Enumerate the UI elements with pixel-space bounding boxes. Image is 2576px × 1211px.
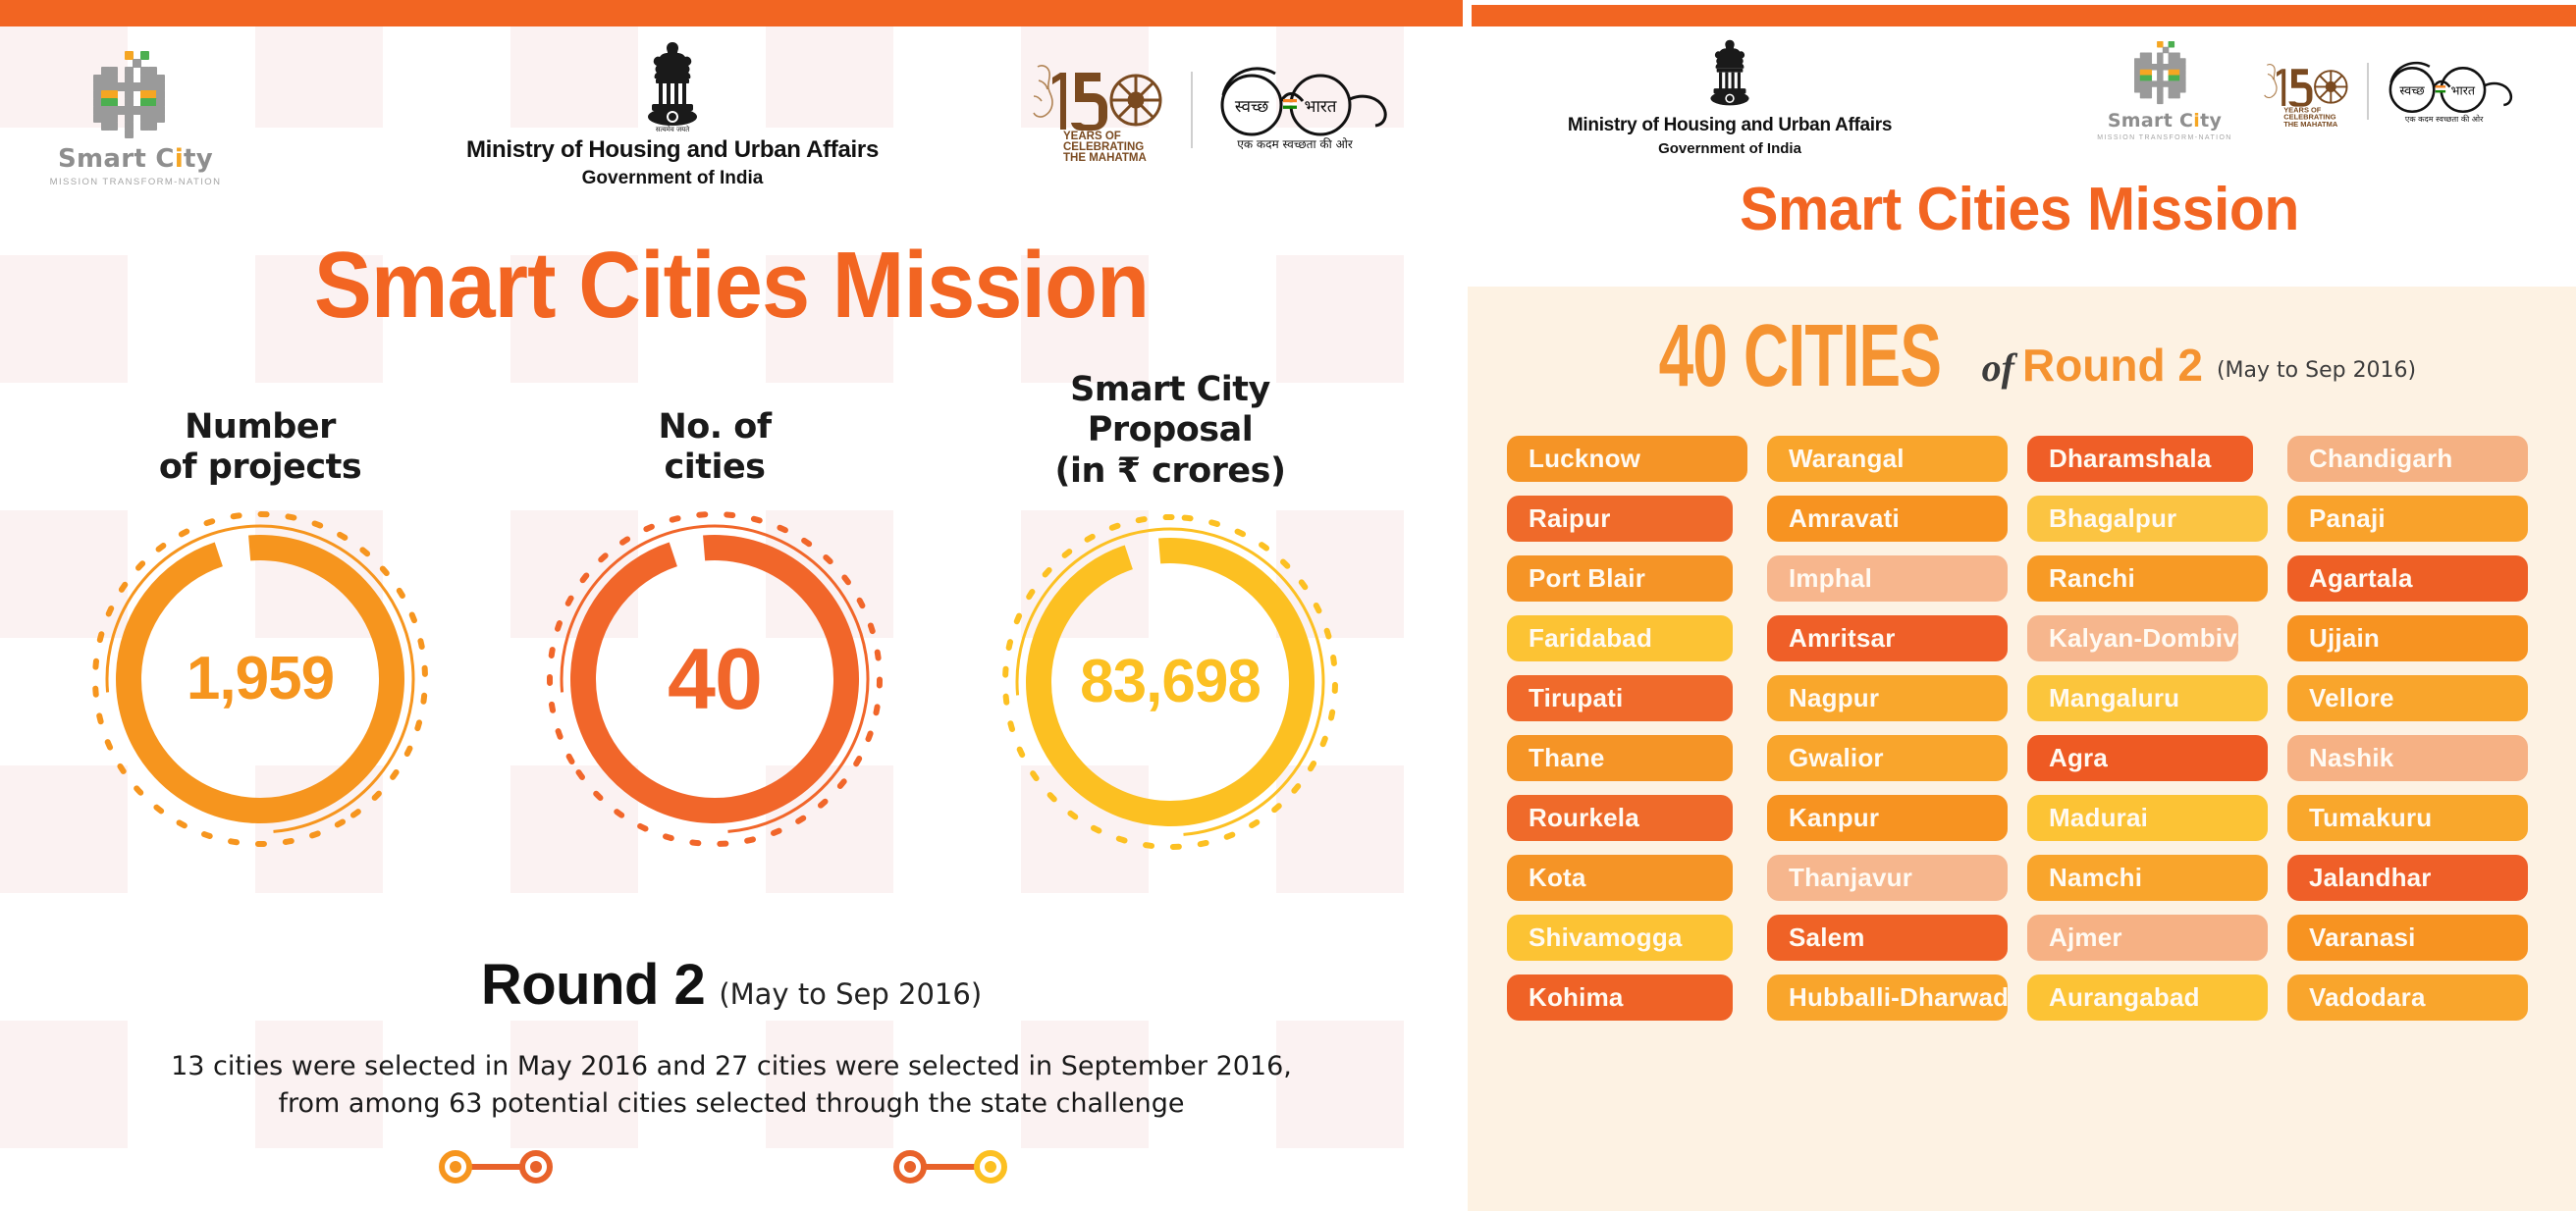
cities-round-label: Round 2 (2022, 340, 2203, 391)
smart-city-logo: Smart City MISSION TRANSFORM-NATION (37, 51, 234, 187)
150-years-mahatma-logo: YEARS OF CELEBRATING THE MAHATMA (1016, 53, 1173, 166)
cities-heading-of: of (1982, 345, 2014, 390)
metric-3-caption-line1: Smart City (964, 370, 1376, 410)
left-logo-row: Smart City MISSION TRANSFORM-NATION (0, 39, 1463, 226)
smart-city-logo-pixel (148, 122, 157, 131)
svg-text:भारत: भारत (2451, 83, 2476, 98)
svg-text:स्वच्छ: स्वच्छ (2399, 83, 2425, 98)
round-label: Round 2 (481, 953, 705, 1017)
svg-text:THE MAHATMA: THE MAHATMA (2283, 120, 2338, 127)
svg-text:भारत: भारत (1305, 97, 1337, 117)
metric-3-caption-line2: Proposal (964, 410, 1376, 450)
city-pill[interactable]: Salem (1767, 915, 2008, 961)
svg-text:एक कदम स्वच्छता की ओर: एक कदम स्वच्छता की ओर (2405, 114, 2484, 124)
city-pill[interactable]: Kanpur (1767, 795, 2008, 841)
metric-1-caption-line2: of projects (54, 448, 466, 488)
svg-text:सत्यमेव जयते: सत्यमेव जयते (656, 125, 690, 133)
metric-3-caption-line3: (in ₹ crores) (964, 451, 1376, 492)
city-pill[interactable]: Ujjain (2287, 615, 2528, 661)
150-years-mahatma-icon: YEARS OF CELEBRATING THE MAHATMA (2253, 56, 2355, 127)
cities-round-dates: (May to Sep 2016) (2217, 358, 2416, 383)
swachh-bharat-glasses-icon: स्वच्छ भारत एक कदम स्वच्छता की ओर (2381, 55, 2528, 128)
smart-city-logo-pixel (2169, 41, 2174, 47)
smart-city-logo-i-dot: i (2193, 110, 2200, 132)
metric-3-ring: 83,698 (993, 505, 1347, 859)
city-pill[interactable]: Hubballi-Dharwad (1767, 974, 2008, 1021)
smart-city-logo-word: Smart City (37, 144, 234, 174)
page-title: Smart Cities Mission (59, 232, 1405, 340)
city-pill[interactable]: Vellore (2287, 675, 2528, 721)
city-pill[interactable]: Lucknow (1507, 436, 1747, 482)
metrics-row: Number of projects 1,959 No. of cities (0, 407, 1463, 957)
right-logo-divider (2367, 63, 2369, 120)
ministry-name: Ministry of Housing and Urban Affairs (461, 136, 884, 164)
150-logo-line3: THE MAHATMA (1063, 152, 1147, 161)
round-dates: (May to Sep 2016) (719, 977, 982, 1011)
cities-heading: 40 CITIESofRound 2(May to Sep 2016) (1468, 318, 2576, 407)
city-pill[interactable]: Kohima (1507, 974, 1733, 1021)
government-of-india-label: Government of India (461, 168, 884, 189)
city-pill[interactable]: Imphal (1767, 555, 2008, 602)
swachh-bharat-logo: स्वच्छ भारत एक कदम स्वच्छता की ओर (1210, 58, 1407, 161)
smart-city-logo-pixel (2173, 92, 2179, 98)
smart-city-logo-pixel (109, 122, 118, 131)
india-state-emblem-icon (1701, 37, 1758, 112)
city-pill[interactable]: Aurangabad (2027, 974, 2268, 1021)
metric-number-of-projects: Number of projects 1,959 (54, 407, 466, 856)
description-line-2: from among 63 potential cities selected … (0, 1085, 1463, 1123)
connector-2 (886, 1147, 1014, 1186)
right-top-orange-bar (1472, 5, 2576, 26)
right-panel: Ministry of Housing and Urban Affairs Go… (1463, 0, 2576, 1211)
city-pill[interactable]: Nagpur (1767, 675, 2008, 721)
city-pill[interactable]: Agartala (2287, 555, 2528, 602)
150-years-mahatma-icon: YEARS OF CELEBRATING THE MAHATMA (1016, 53, 1173, 161)
metric-1-ring: 1,959 (83, 502, 437, 856)
india-state-emblem-icon: सत्यमेव जयते (636, 39, 709, 133)
smart-city-logo-i-dot: i (175, 144, 184, 174)
metric-2-caption-line2: cities (509, 448, 921, 488)
description-text: 13 cities were selected in May 2016 and … (0, 1048, 1463, 1124)
city-pill[interactable]: Agra (2027, 735, 2268, 781)
smart-city-logo-pixel (2179, 86, 2185, 92)
city-pill[interactable]: Jalandhar (2287, 855, 2528, 901)
city-pill[interactable]: Tirupati (1507, 675, 1733, 721)
logo-divider (1191, 72, 1193, 148)
metric-2-value: 40 (538, 502, 891, 856)
right-smart-city-logo: Smart City MISSION TRANSFORM-NATION (2091, 41, 2238, 141)
city-pill[interactable]: Nashik (2287, 735, 2528, 781)
svg-text:स्वच्छ: स्वच्छ (1235, 97, 1269, 117)
right-smart-city-tagline: MISSION TRANSFORM-NATION (2091, 134, 2238, 141)
smart-city-butterfly-icon (93, 51, 178, 137)
city-pill[interactable]: Dharamshala (2027, 436, 2253, 482)
city-pill[interactable]: Mangaluru (2027, 675, 2268, 721)
smart-city-logo-pixel (2157, 98, 2163, 104)
metric-no-of-cities: No. of cities 40 (509, 407, 921, 856)
round-label-block: Round 2(May to Sep 2016) (0, 952, 1463, 1018)
city-pill[interactable]: Ajmer (2027, 915, 2268, 961)
city-pill[interactable]: Faridabad (1507, 615, 1733, 661)
city-pill[interactable]: Kalyan-Dombivali (2027, 615, 2238, 661)
city-pill[interactable]: Thanjavur (1767, 855, 2008, 901)
left-panel: Smart City MISSION TRANSFORM-NATION (0, 0, 1463, 1211)
metric-smart-city-proposal: Smart City Proposal (in ₹ crores) 83,698 (964, 370, 1376, 859)
left-top-orange-bar (0, 0, 1463, 26)
city-pill[interactable]: Chandigarh (2287, 436, 2528, 482)
city-pill[interactable]: Warangal (1767, 436, 2008, 482)
city-pill[interactable]: Madurai (2027, 795, 2268, 841)
city-pill[interactable]: Amritsar (1767, 615, 2008, 661)
smart-city-butterfly-icon (2134, 41, 2195, 103)
right-government-of-india-label: Government of India (1484, 140, 1975, 157)
metric-3-value: 83,698 (993, 505, 1347, 859)
city-pill[interactable]: Varanasi (2287, 915, 2528, 961)
cities-card: 40 CITIESofRound 2(May to Sep 2016) Luck… (1468, 287, 2576, 1211)
right-mahatma-swachh-group: YEARS OF CELEBRATING THE MAHATMA (2253, 55, 2528, 128)
smart-city-logo-pixel (140, 51, 149, 60)
city-pill[interactable]: Tumakuru (2287, 795, 2528, 841)
city-pill[interactable]: Gwalior (1767, 735, 2008, 781)
city-pill[interactable]: Thane (1507, 735, 1733, 781)
city-pill[interactable]: Shivamogga (1507, 915, 1733, 961)
city-pill[interactable]: Bhagalpur (2027, 496, 2268, 542)
metric-2-caption-line1: No. of (509, 407, 921, 448)
metric-1-value: 1,959 (83, 502, 437, 856)
smart-city-logo-pixel (125, 130, 134, 138)
right-smart-city-word: Smart City (2091, 110, 2238, 132)
metric-2-ring: 40 (538, 502, 891, 856)
svg-text:एक कदम स्वच्छता की ओर: एक कदम स्वच्छता की ओर (1237, 137, 1354, 151)
mahatma-swachh-logo-group: YEARS OF CELEBRATING THE MAHATMA (1016, 53, 1407, 166)
city-pill[interactable]: Rourkela (1507, 795, 1733, 841)
ministry-logo: सत्यमेव जयते Ministry of Housing and Urb… (461, 39, 884, 189)
city-pill-grid: LucknowWarangalDharamshalaChandigarhRaip… (1507, 436, 2543, 1021)
city-pill[interactable]: Kota (1507, 855, 1733, 901)
connector-1 (432, 1147, 560, 1186)
description-line-1: 13 cities were selected in May 2016 and … (0, 1048, 1463, 1085)
right-ministry-logo: Ministry of Housing and Urban Affairs Go… (1484, 37, 1975, 157)
cities-count-label: 40 CITIES (1658, 304, 1941, 407)
right-ministry-name: Ministry of Housing and Urban Affairs (1484, 115, 1975, 136)
smart-city-logo-pixel (2146, 92, 2152, 98)
right-logo-row: Ministry of Housing and Urban Affairs Go… (1463, 37, 2576, 288)
city-pill[interactable]: Vadodara (2287, 974, 2528, 1021)
swachh-bharat-glasses-icon: स्वच्छ भारत एक कदम स्वच्छता की ओर (1210, 58, 1407, 156)
city-pill[interactable]: Port Blair (1507, 555, 1733, 602)
city-pill[interactable]: Namchi (2027, 855, 2268, 901)
city-pill[interactable]: Panaji (2287, 496, 2528, 542)
city-pill[interactable]: Amravati (1767, 496, 2008, 542)
right-page-title: Smart Cities Mission (1490, 175, 2548, 244)
smart-city-logo-pixel (156, 114, 165, 123)
metric-1-caption-line1: Number (54, 407, 466, 448)
city-pill[interactable]: Raipur (1507, 496, 1733, 542)
smart-city-logo-tagline: MISSION TRANSFORM-NATION (37, 177, 234, 187)
city-pill[interactable]: Ranchi (2027, 555, 2268, 602)
